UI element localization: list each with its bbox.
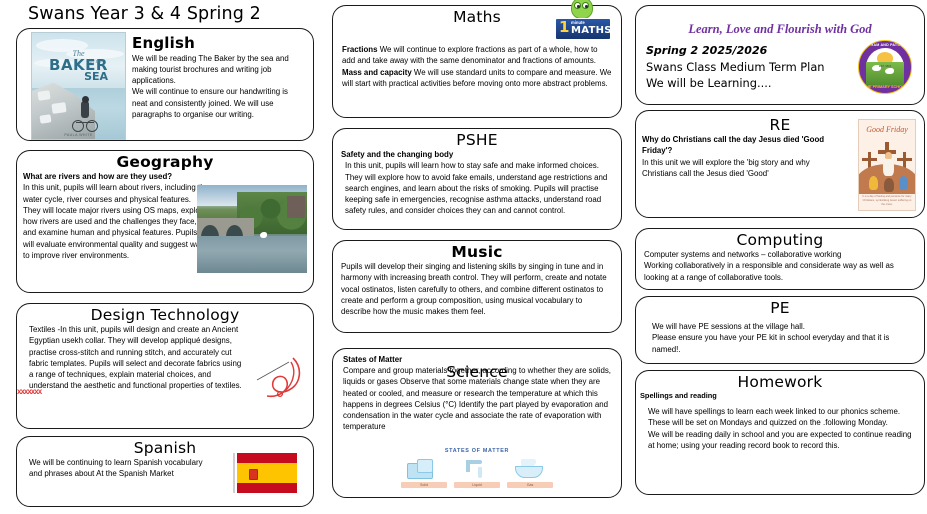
computing-body: Working collaboratively in a responsible… (644, 260, 916, 282)
som-label-gas: Gas (507, 482, 553, 488)
card-design-technology: Design Technology Textiles -In this unit… (16, 303, 314, 429)
card-music: Music Pupils will develop their singing … (332, 240, 622, 333)
music-title: Music (333, 244, 621, 260)
crest-top-text: CLAPHAM AND PATCHING (859, 43, 911, 47)
card-computing: Computing Computer systems and networks … (635, 228, 925, 290)
geography-title: Geography (17, 154, 313, 170)
good-friday-poster: Good Friday It is a day of fasting and p… (858, 119, 916, 211)
maths-part1-lead: Fractions (342, 45, 378, 54)
card-english: The BAKER by the SEA PAULA WHITE English… (16, 28, 314, 141)
book-title-bythe: by the (90, 60, 102, 65)
maths-part1-body: We will continue to explore fractions as… (342, 45, 598, 65)
science-body: Compare and group materials together, ac… (343, 365, 613, 432)
som-label-solid: Solid (401, 482, 447, 488)
re-poster-caption: It is a day of fasting and penance for m… (862, 195, 912, 207)
states-of-matter-title: STATES OF MATTER (401, 448, 553, 454)
needle-thread-icon (233, 350, 305, 416)
design-technology-body: Textiles -In this unit, pupils will desi… (17, 324, 249, 391)
card-header-info: Learn, Love and Flourish with God Spring… (635, 5, 925, 105)
pshe-body: In this unit, pupils will learn how to s… (341, 160, 613, 216)
spanish-body: We will be continuing to learn Spanish v… (17, 457, 209, 479)
music-body: Pupils will develop their singing and li… (333, 261, 621, 317)
science-lead: States of Matter (343, 354, 613, 365)
maths-logo-one: 1 (559, 20, 569, 35)
school-motto: Learn, Love and Flourish with God (636, 22, 924, 37)
pe-title: PE (636, 300, 924, 316)
english-body: We will be reading The Baker by the sea … (130, 53, 308, 120)
spain-flag-icon (233, 453, 297, 493)
school-crest-logo: EST. 1818 CLAPHAM AND PATCHING CofE PRIM… (858, 40, 912, 94)
geography-body: In this unit, pupils will learn about ri… (23, 182, 209, 261)
homework-body: We will have spellings to learn each wee… (636, 406, 924, 451)
homework-subtitle: Spellings and reading (636, 391, 924, 400)
computing-title: Computing (636, 232, 924, 248)
maths-part2-lead: Mass and capacity (342, 68, 412, 77)
card-spanish: Spanish We will be continuing to learn S… (16, 436, 314, 507)
card-homework: Homework Spellings and reading We will h… (635, 370, 925, 495)
river-bridge-photo (197, 185, 307, 273)
computing-lead: Computer systems and networks – collabor… (644, 249, 916, 260)
card-science: Science States of Matter Compare and gro… (332, 348, 622, 498)
pe-body: We will have PE sessions at the village … (636, 317, 924, 355)
som-label-liquid: Liquid (454, 482, 500, 488)
book-title-sea: SEA (84, 70, 108, 83)
book-cover-image: The BAKER by the SEA PAULA WHITE (31, 32, 126, 140)
card-geography: Geography What are rivers and how are th… (16, 150, 314, 293)
crest-est-text: EST. 1818 (866, 65, 904, 68)
re-body: In this unit we will explore the 'big st… (642, 157, 842, 179)
card-pshe: PSHE Safety and the changing body In thi… (332, 128, 622, 230)
pshe-title: PSHE (333, 132, 621, 148)
one-minute-maths-logo: 1 minute MATHS (555, 0, 613, 40)
page-title: Swans Year 3 & 4 Spring 2 (28, 4, 261, 24)
states-of-matter-diagram: STATES OF MATTER Solid Liquid Gas (401, 448, 553, 488)
geography-lead: What are rivers and how are they used? (23, 171, 209, 182)
maths-logo-maths: MATHS (571, 26, 612, 36)
re-poster-title: Good Friday (859, 125, 915, 134)
card-re: RE Why do Christians call the day Jesus … (635, 110, 925, 218)
homework-title: Homework (636, 374, 924, 390)
english-title: English (132, 36, 308, 52)
design-technology-title: Design Technology (17, 307, 313, 323)
re-lead: Why do Christians call the day Jesus die… (642, 134, 842, 156)
medium-term-plan-page: Swans Year 3 & 4 Spring 2 (0, 0, 927, 514)
crest-bottom-text: CofE PRIMARY SCHOOL (859, 85, 911, 90)
book-author: PAULA WHITE (64, 133, 92, 137)
pshe-lead: Safety and the changing body (341, 149, 613, 160)
card-pe: PE We will have PE sessions at the villa… (635, 296, 925, 364)
